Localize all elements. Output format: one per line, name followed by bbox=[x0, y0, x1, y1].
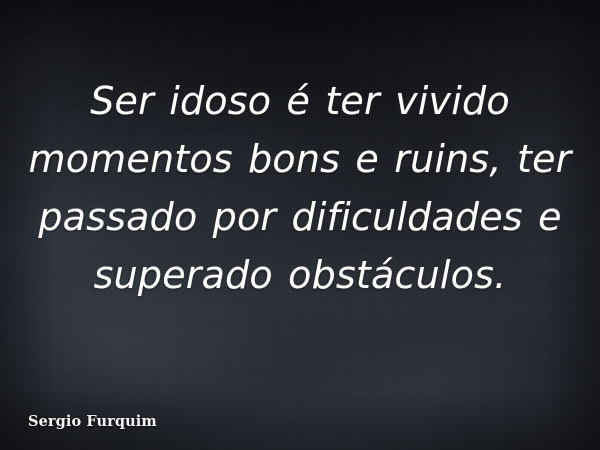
quote-line-3: passado por dificuldades e bbox=[22, 188, 578, 246]
quote-line-4: superado obstáculos. bbox=[22, 246, 578, 304]
quote-line-2: momentos bons e ruins, ter bbox=[22, 130, 578, 188]
quote-author: Sergio Furquim bbox=[28, 413, 157, 430]
quote-text: Ser idoso é ter vivido momentos bons e r… bbox=[0, 72, 600, 304]
quote-line-1: Ser idoso é ter vivido bbox=[22, 72, 578, 130]
quote-card: Ser idoso é ter vivido momentos bons e r… bbox=[0, 0, 600, 450]
